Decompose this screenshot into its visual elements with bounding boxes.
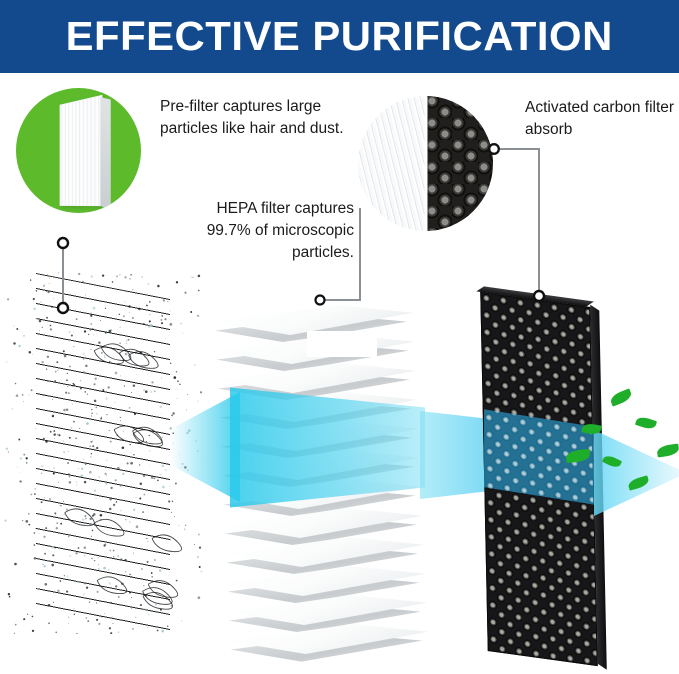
- hepa-stack-highlight-chip: [307, 331, 377, 357]
- page-title: EFFECTIVE PURIFICATION: [66, 16, 613, 57]
- airflow-beam-outlet: [594, 430, 679, 516]
- hepa-media-swatch: [358, 96, 426, 231]
- callout-hepa: HEPA filter captures 99.7% of microscopi…: [172, 198, 354, 264]
- leaf-icon: [635, 415, 657, 431]
- hepa-pleat: [218, 363, 416, 393]
- hepa-pleat: [226, 537, 424, 567]
- hepa-pleat: [221, 421, 419, 451]
- carbon-honeycomb-face: [480, 292, 597, 666]
- header-banner: EFFECTIVE PURIFICATION: [0, 0, 679, 73]
- hepa-carbon-badge: [358, 96, 493, 231]
- airflow-beam-to-carbon: [420, 405, 490, 505]
- leader-carbon: [489, 144, 544, 301]
- leaf-icon: [627, 475, 650, 490]
- leaf-icon: [602, 454, 622, 470]
- callout-carbon: Activated carbon filter absorb: [525, 97, 679, 141]
- callout-pre-filter: Pre-filter captures large particles like…: [160, 96, 350, 140]
- hepa-pleat: [223, 479, 421, 509]
- hepa-pleat: [222, 450, 420, 480]
- pre-filter-badge-panel-icon: [60, 95, 103, 206]
- hepa-pleat-stack: [215, 305, 420, 665]
- pre-filter-badge: [16, 88, 141, 213]
- hepa-pleat: [219, 392, 417, 422]
- hepa-pleat: [225, 508, 423, 538]
- hepa-pleat: [229, 595, 427, 625]
- infographic-canvas: EFFECTIVE PURIFICATION: [0, 0, 679, 674]
- pre-filter-panel: [36, 273, 170, 635]
- leaf-icon: [656, 444, 679, 458]
- pre-filter-slats: [36, 273, 170, 635]
- hepa-pleat: [228, 566, 426, 596]
- badge-seam-divider: [424, 96, 427, 231]
- hepa-pleat: [230, 624, 428, 654]
- carbon-honeycomb-swatch: [426, 96, 494, 231]
- leaf-icon: [609, 388, 634, 406]
- carbon-panel: [480, 292, 597, 666]
